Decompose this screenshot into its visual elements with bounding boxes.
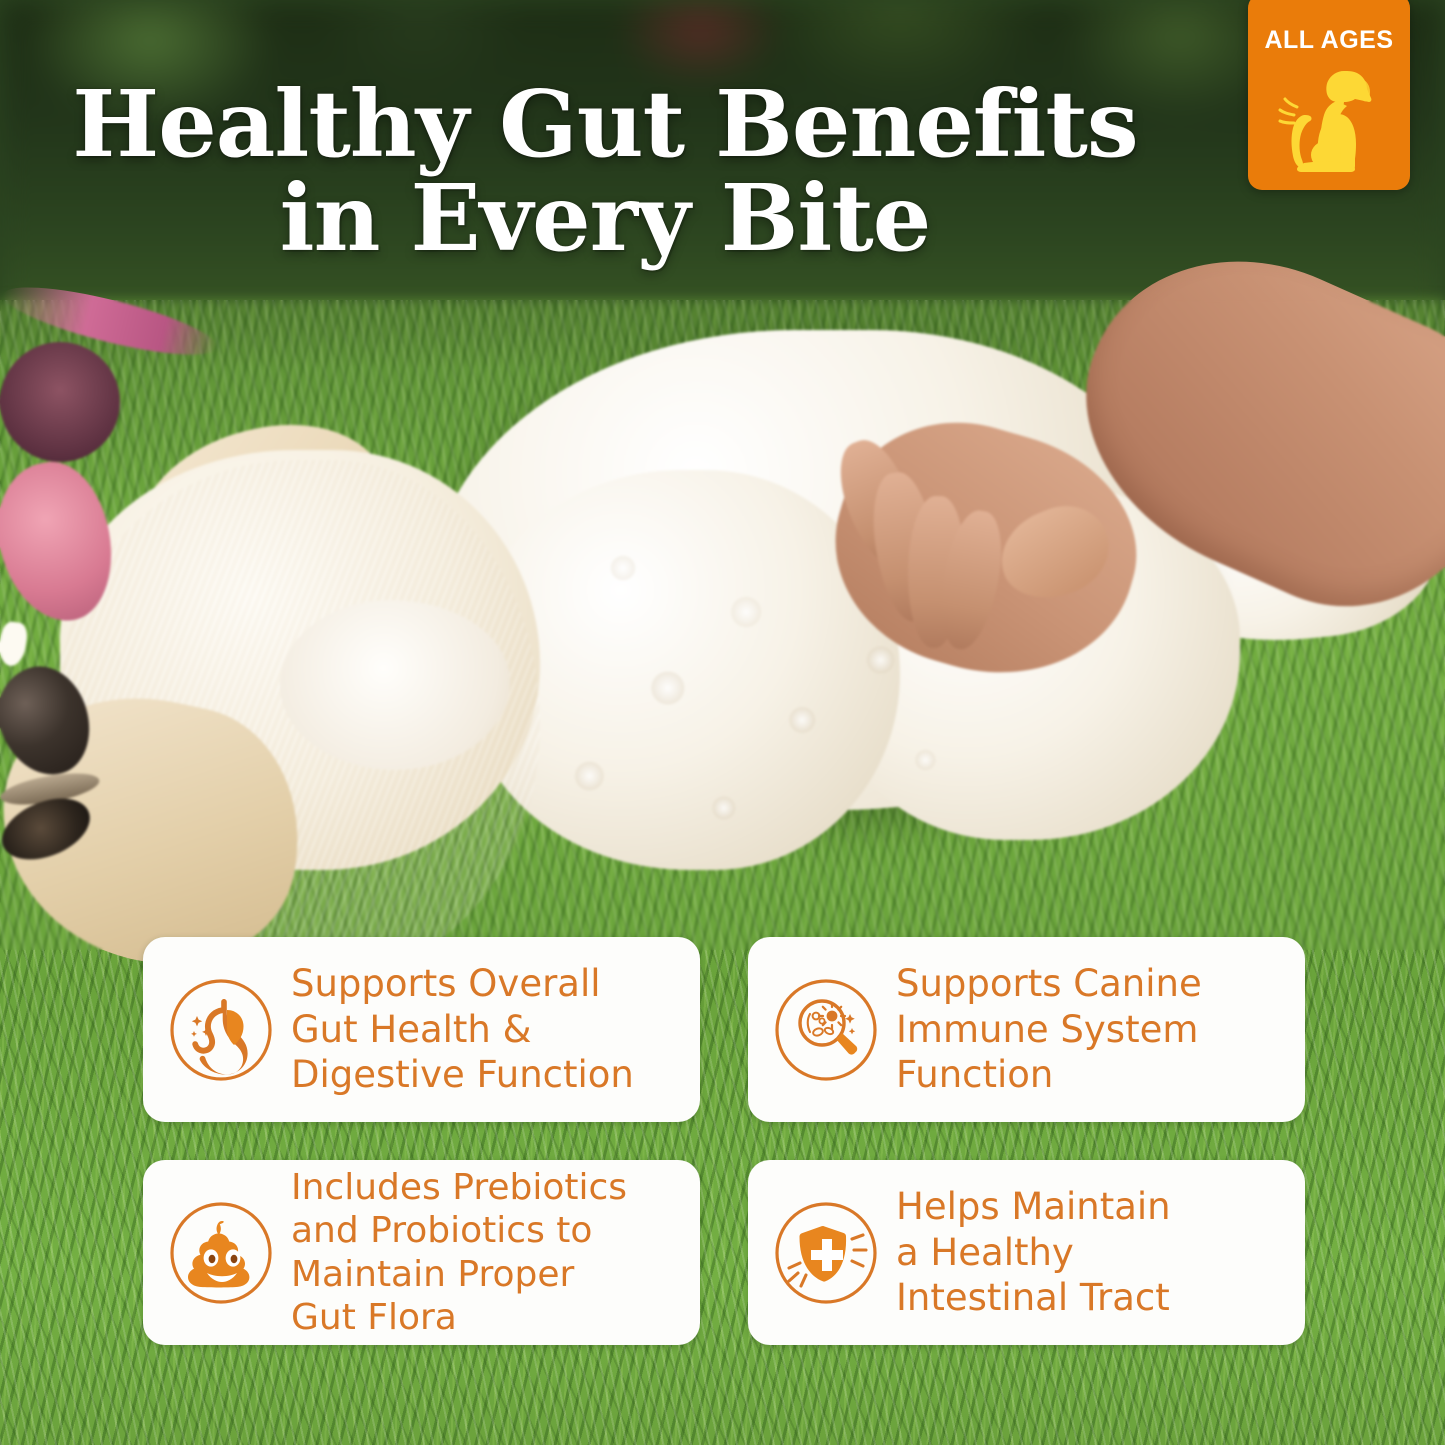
all-ages-badge-label: ALL AGES [1264, 26, 1393, 55]
benefit-line: a Healthy [896, 1231, 1074, 1274]
benefit-line: Maintain Proper [291, 1254, 574, 1295]
benefit-card-prebiotics-probiotics: Includes Prebiotics and Probiotics to Ma… [143, 1160, 700, 1345]
headline-line-1: Healthy Gut Benefits [72, 70, 1137, 178]
benefit-cards-grid: Supports Overall Gut Health & Digestive … [143, 937, 1305, 1345]
all-ages-badge: ALL AGES [1248, 0, 1410, 190]
stomach-icon [167, 976, 275, 1084]
magnifying-glass-microbes-icon [772, 976, 880, 1084]
benefit-line: Helps Maintain [896, 1185, 1171, 1228]
benefit-line: Gut Flora [291, 1297, 457, 1338]
headline-line-2: in Every Bite [0, 172, 1210, 266]
photo-soften-overlay [0, 300, 1445, 950]
smiling-poop-icon [167, 1199, 275, 1307]
sitting-dog-silhouette-icon [1274, 63, 1384, 180]
benefit-line: Supports Canine [896, 962, 1202, 1005]
benefit-card-label: Helps Maintain a Healthy Intestinal Trac… [896, 1184, 1171, 1322]
benefit-line: Intestinal Tract [896, 1276, 1170, 1319]
shield-plus-icon [772, 1199, 880, 1307]
benefit-line: Supports Overall [291, 962, 601, 1005]
page-title: Healthy Gut Benefits in Every Bite [0, 78, 1210, 266]
benefit-line: and Probiotics to [291, 1210, 592, 1251]
benefit-card-label: Supports Canine Immune System Function [896, 961, 1202, 1099]
product-benefits-infographic: Healthy Gut Benefits in Every Bite ALL A… [0, 0, 1445, 1445]
benefit-card-label: Supports Overall Gut Health & Digestive … [291, 961, 634, 1099]
benefit-card-intestinal-tract: Helps Maintain a Healthy Intestinal Trac… [748, 1160, 1305, 1345]
benefit-card-gut-health: Supports Overall Gut Health & Digestive … [143, 937, 700, 1122]
benefit-line: Includes Prebiotics [291, 1167, 627, 1208]
benefit-line: Function [896, 1053, 1053, 1096]
benefit-line: Gut Health & [291, 1008, 532, 1051]
dog-photo [0, 300, 1445, 950]
benefit-card-label: Includes Prebiotics and Probiotics to Ma… [291, 1166, 627, 1339]
benefit-line: Digestive Function [291, 1053, 634, 1096]
benefit-line: Immune System [896, 1008, 1198, 1051]
benefit-card-immune-system: Supports Canine Immune System Function [748, 937, 1305, 1122]
